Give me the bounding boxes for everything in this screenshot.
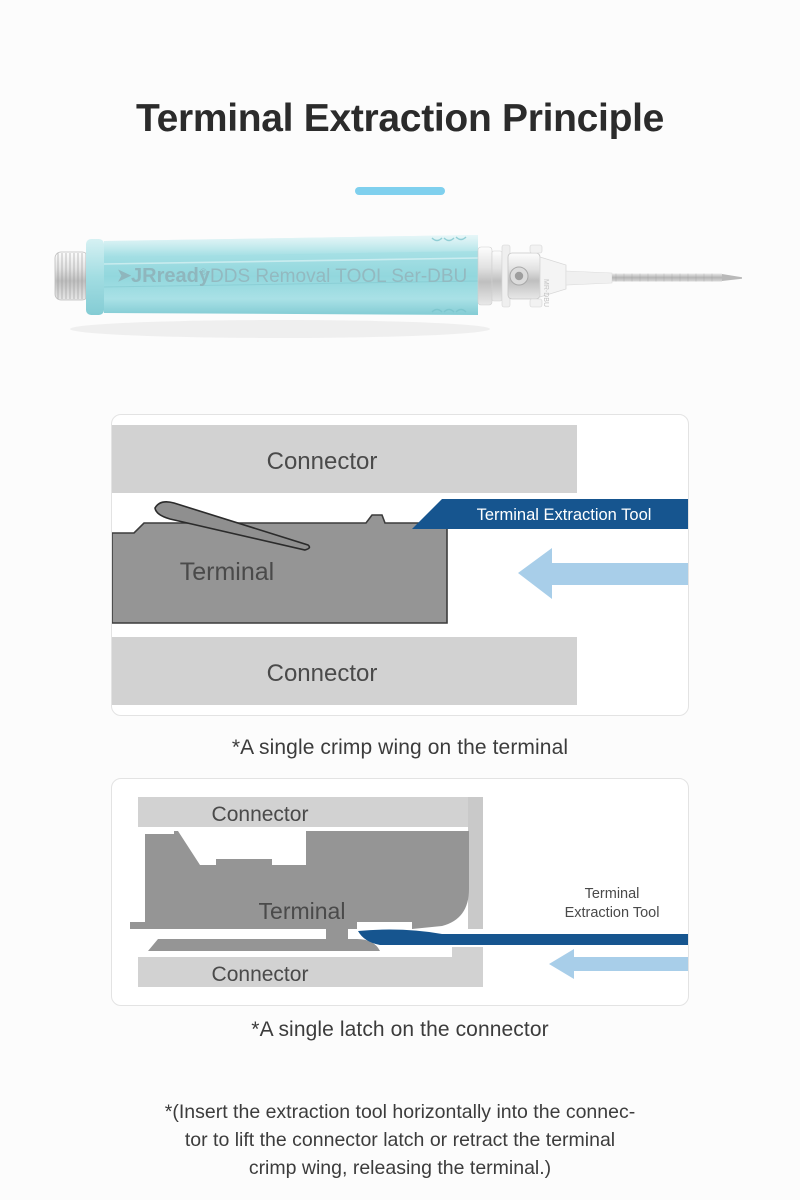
tool-label-line2: Extraction Tool: [565, 905, 660, 921]
brand-logo-icon: ➤: [117, 266, 132, 285]
tool-blade: [566, 271, 742, 285]
connector-top-label: Connector: [212, 803, 309, 826]
connector-latch-arm: [148, 939, 380, 951]
product-photo: ➤ JRready ® DDS Removal TOOL Ser-DBU MR-…: [0, 217, 800, 357]
terminal-label: Terminal: [180, 558, 274, 586]
chuck-engraving: MR-DBU: [542, 279, 549, 307]
footnote-line-3: crimp wing, releasing the terminal.): [100, 1154, 700, 1182]
page-title: Terminal Extraction Principle: [0, 0, 800, 141]
tool-chuck: MR-DBU: [478, 245, 566, 307]
connector-right-wall-upper: [468, 797, 483, 929]
insertion-direction-arrow-icon: [518, 548, 688, 599]
tool-end-cap: [55, 252, 88, 300]
latch-diagram: Connector Connector Terminal Terminal Ex…: [112, 779, 688, 1005]
tool-label-line1: Terminal: [585, 886, 640, 902]
connector-top-block: [138, 797, 483, 827]
extraction-tool-blade: [358, 930, 688, 945]
product-photo-illustration: ➤ JRready ® DDS Removal TOOL Ser-DBU MR-…: [0, 217, 800, 357]
tool-label-text: Terminal Extraction Tool: [477, 506, 652, 524]
footnote-line-1: *(Insert the extraction tool horizontall…: [100, 1098, 700, 1126]
connector-bottom-block: [138, 957, 483, 987]
diagram-panel-latch: Connector Connector Terminal Terminal Ex…: [111, 778, 689, 1006]
product-model-text: DDS Removal TOOL Ser-DBU: [210, 266, 467, 287]
product-shadow: [70, 320, 490, 338]
crimp-wing-diagram: Connector Connector Terminal Terminal Ex…: [112, 415, 688, 715]
connector-bottom-label: Connector: [267, 660, 378, 687]
terminal-label: Terminal: [259, 898, 346, 924]
title-underline-accent: [355, 187, 445, 195]
footnote-line-2: tor to lift the connector latch or retra…: [100, 1126, 700, 1154]
footnote: *(Insert the extraction tool horizontall…: [100, 1098, 700, 1182]
caption-latch: *A single latch on the connector: [0, 1018, 800, 1042]
connector-bottom-label: Connector: [212, 963, 309, 986]
insertion-direction-arrow-icon: [549, 949, 688, 979]
brand-registered-mark: ®: [200, 267, 207, 277]
connector-top-label: Connector: [267, 448, 378, 475]
diagram-panel-crimp-wing: Connector Connector Terminal Terminal Ex…: [111, 414, 689, 716]
tool-branding: ➤ JRready ® DDS Removal TOOL Ser-DBU: [117, 265, 467, 287]
terminal-body: [112, 515, 447, 623]
caption-crimp-wing: *A single crimp wing on the terminal: [0, 736, 800, 760]
brand-name: JRready: [131, 265, 211, 287]
